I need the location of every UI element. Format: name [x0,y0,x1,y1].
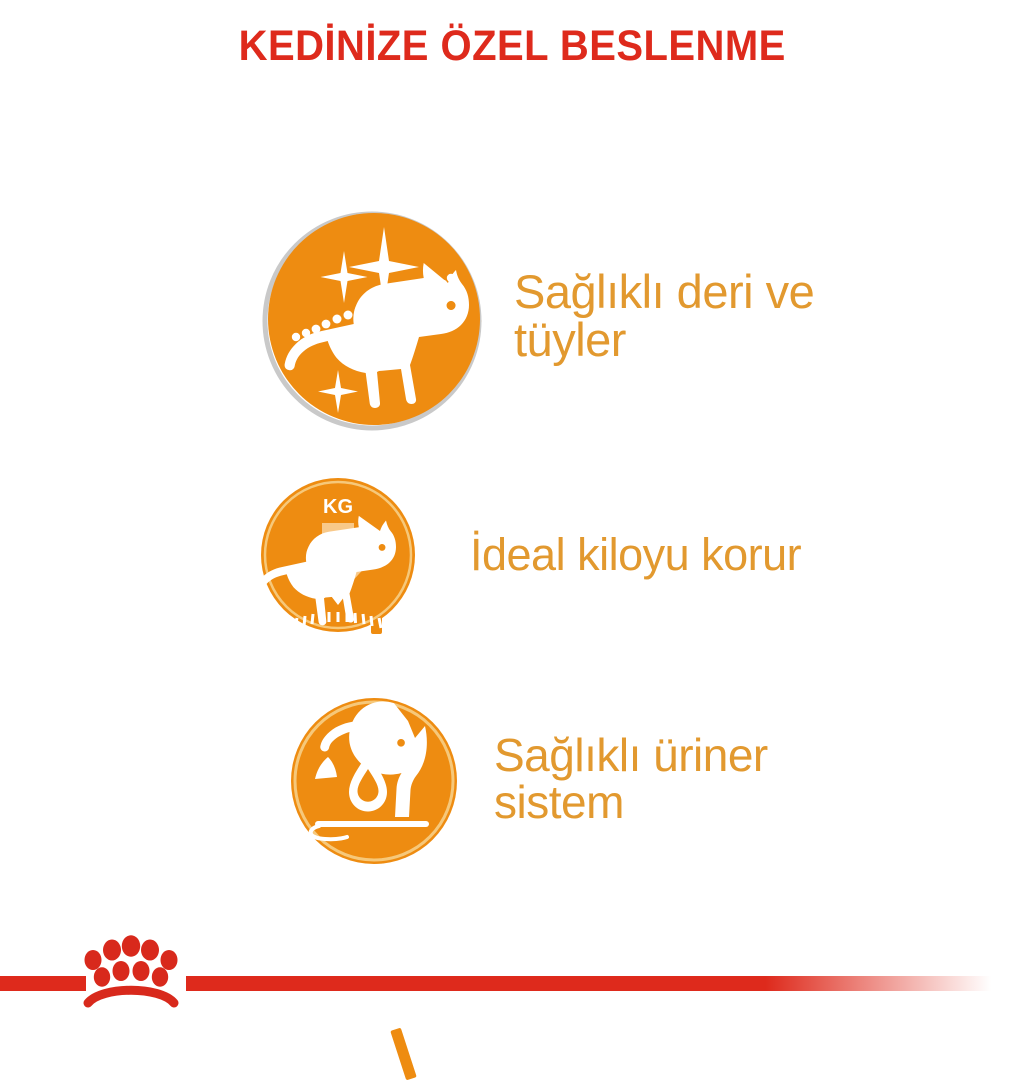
benefit-label-urinary: Sağlıklı üriner sistem [494,732,768,826]
kg-label: KG [323,496,353,518]
page-title-bar: KEDİNİZE ÖZEL BESLENME [0,22,1024,71]
royal-canin-crown-logo [72,932,190,1010]
benefits-list: Sağlıklı deri ve tüyler KG [0,150,1024,910]
cat-urinary-droplet-icon [288,695,460,867]
page-title: KEDİNİZE ÖZEL BESLENME [238,22,785,71]
benefit-item-coat[interactable]: Sağlıklı deri ve tüyler [258,205,814,433]
cat-coat-sparkle-icon [258,205,486,433]
benefit-label-coat: Sağlıklı deri ve tüyler [514,268,814,364]
benefit-item-weight[interactable]: KG [258,475,801,635]
crown-arc [88,990,174,1003]
footer-rule-right [186,976,991,991]
connector-dash-bottom [390,1028,417,1080]
cat-weight-scale-icon: KG [258,475,418,635]
crown-dots [85,935,178,987]
footer [0,914,1024,1024]
benefit-item-urinary[interactable]: Sağlıklı üriner sistem [288,695,768,867]
benefit-label-weight: İdeal kiloyu korur [470,532,801,578]
